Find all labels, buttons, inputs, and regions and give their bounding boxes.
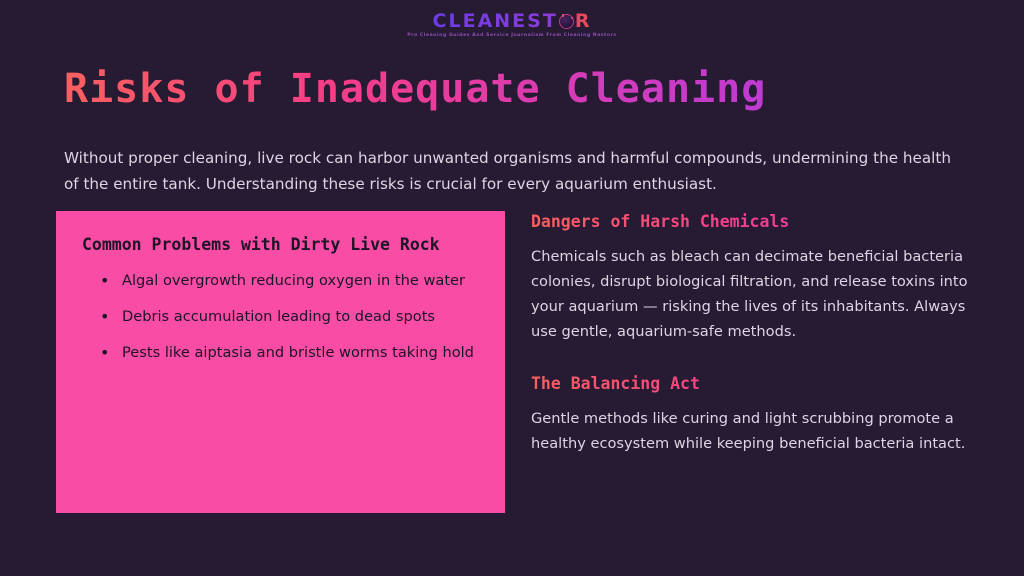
brand-tagline: Pro Cleaning Guides And Service Journali…	[0, 34, 1024, 39]
problems-list: Algal overgrowth reducing oxygen in the …	[82, 270, 479, 363]
brand-wordmark: CLEANESTR	[433, 12, 592, 31]
globe-orb-icon	[559, 14, 574, 29]
problems-card: Common Problems with Dirty Live Rock Alg…	[56, 211, 505, 513]
intro-paragraph: Without proper cleaning, live rock can h…	[64, 145, 954, 197]
section-body: Gentle methods like curing and light scr…	[531, 407, 968, 457]
brand-header: CLEANESTR Pro Cleaning Guides And Servic…	[0, 12, 1024, 39]
slide-root: CLEANESTR Pro Cleaning Guides And Servic…	[0, 0, 1024, 576]
brand-name-part-1: CLEANEST	[433, 10, 558, 32]
problems-card-heading: Common Problems with Dirty Live Rock	[82, 235, 479, 254]
page-title: Risks of Inadequate Cleaning	[64, 65, 766, 113]
list-item: Pests like aiptasia and bristle worms ta…	[82, 342, 479, 363]
section-body: Chemicals such as bleach can decimate be…	[531, 245, 968, 344]
section-heading: The Balancing Act	[531, 373, 968, 394]
list-item: Algal overgrowth reducing oxygen in the …	[82, 270, 479, 291]
content-columns: Common Problems with Dirty Live Rock Alg…	[56, 211, 968, 521]
list-item: Debris accumulation leading to dead spot…	[82, 306, 479, 327]
section-balancing-act: The Balancing Act Gentle methods like cu…	[531, 373, 968, 457]
brand-name-part-2: R	[575, 10, 592, 32]
section-harsh-chemicals: Dangers of Harsh Chemicals Chemicals suc…	[531, 211, 968, 345]
right-column: Dangers of Harsh Chemicals Chemicals suc…	[531, 211, 968, 457]
section-heading: Dangers of Harsh Chemicals	[531, 211, 968, 232]
